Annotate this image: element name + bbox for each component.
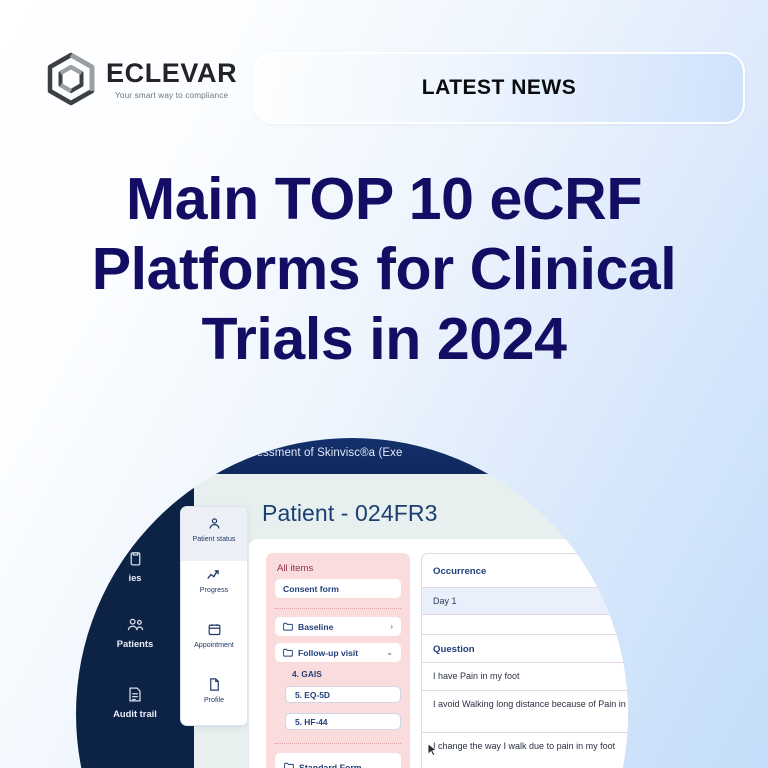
subnav-label-profile: Profile <box>181 696 247 704</box>
question-row: I change the way I walk due to pain in m… <box>433 740 628 752</box>
standard-form-label: Standard Form <box>299 763 362 768</box>
subnav-item-appointment[interactable]: Appointment <box>181 622 247 649</box>
subnav-item-patient-status[interactable]: Patient status <box>181 507 247 561</box>
secondary-sidebar: Patient status Progress <box>180 506 248 726</box>
folder-icon <box>283 622 293 631</box>
folder-baseline-label: Baseline <box>298 622 333 632</box>
item-eq5d-label: 5. EQ-5D <box>295 690 330 700</box>
subnav-label-progress: Progress <box>181 586 247 594</box>
chevron-right-icon: › <box>390 622 393 631</box>
brand-name: ECLEVAR <box>106 60 237 87</box>
folder-baseline[interactable]: Baseline › <box>275 617 401 636</box>
question-row: I avoid Walking long distance because of… <box>433 698 628 710</box>
document-list-icon <box>76 686 194 705</box>
subnav-item-profile[interactable]: Profile <box>181 677 247 704</box>
table-row-day1[interactable]: Day 1 <box>422 587 628 615</box>
latest-news-badge[interactable]: LATEST NEWS <box>253 52 745 124</box>
sidebar-label-patients: Patients <box>76 638 194 649</box>
page-title: Main TOP 10 eCRF Platforms for Clinical … <box>0 164 768 375</box>
brand-tagline: Your smart way to compliance <box>115 91 228 100</box>
question-header: Question <box>433 644 475 655</box>
app-mockup-circle: d safety assessment of Skinvisc®a (Exe i… <box>76 438 628 768</box>
folder-followup-visit[interactable]: Follow-up visit ⌄ <box>275 643 401 662</box>
hexagon-logo-icon <box>46 52 96 106</box>
patient-title: Patient - 024FR3 <box>262 500 437 527</box>
person-icon <box>181 516 247 533</box>
sidebar-item-studies[interactable]: ies <box>76 550 194 583</box>
sidebar-label-audit-trail: Audit trail <box>76 708 194 719</box>
latest-news-label: LATEST NEWS <box>422 76 576 100</box>
item-hf44[interactable]: 5. HF-44 <box>285 713 401 730</box>
app-window: d safety assessment of Skinvisc®a (Exe i… <box>76 438 628 768</box>
item-consent-form[interactable]: Consent form <box>275 579 401 598</box>
divider <box>422 662 628 663</box>
divider <box>422 690 628 691</box>
primary-sidebar: ies Patients <box>76 474 194 768</box>
folder-standard-form[interactable]: Standard Form AE/SAE/DD Protocol deviati… <box>275 753 401 768</box>
subnav-label-patient-status: Patient status <box>181 535 247 543</box>
divider <box>422 732 628 733</box>
content-card: All items Consent form Baseline › <box>248 538 628 768</box>
item-gais[interactable]: 4. GAIS <box>292 669 322 679</box>
all-items-pane: All items Consent form Baseline › <box>266 553 410 768</box>
clipboard-icon <box>76 550 194 569</box>
divider <box>275 743 401 744</box>
item-eq5d[interactable]: 5. EQ-5D <box>285 686 401 703</box>
app-topbar: d safety assessment of Skinvisc®a (Exe <box>76 438 628 474</box>
divider <box>275 608 401 609</box>
folder-followup-label: Follow-up visit <box>298 648 358 658</box>
poster-canvas: ECLEVAR Your smart way to compliance LAT… <box>0 0 768 768</box>
file-icon <box>181 677 247 694</box>
sidebar-item-patients[interactable]: Patients <box>76 616 194 649</box>
all-items-header: All items <box>277 563 313 574</box>
brand-logo[interactable]: ECLEVAR Your smart way to compliance <box>46 52 237 106</box>
study-title: d safety assessment of Skinvisc®a (Exe <box>194 447 403 459</box>
question-row: I have Pain in my foot <box>433 670 628 682</box>
trend-up-icon <box>181 567 247 584</box>
calendar-icon <box>181 622 247 639</box>
subnav-label-appointment: Appointment <box>181 641 247 649</box>
folder-icon <box>284 762 294 768</box>
column-header-occurrence: Occurrence <box>433 566 486 577</box>
sidebar-label-studies: ies <box>76 572 194 583</box>
chevron-down-icon: ⌄ <box>386 648 393 657</box>
subnav-item-progress[interactable]: Progress <box>181 567 247 594</box>
folder-icon <box>283 648 293 657</box>
day-label: Day 1 <box>433 596 457 606</box>
standard-form-header: Standard Form <box>284 762 362 768</box>
mouse-pointer-icon <box>427 743 438 758</box>
sidebar-item-audit-trail[interactable]: Audit trail <box>76 686 194 719</box>
item-hf44-label: 5. HF-44 <box>295 717 328 727</box>
divider <box>422 634 628 635</box>
users-icon <box>76 616 194 635</box>
item-consent-form-label: Consent form <box>283 584 339 594</box>
occurrence-table-pane: Occurrence Prog Day 1 Question I have Pa… <box>421 553 628 768</box>
